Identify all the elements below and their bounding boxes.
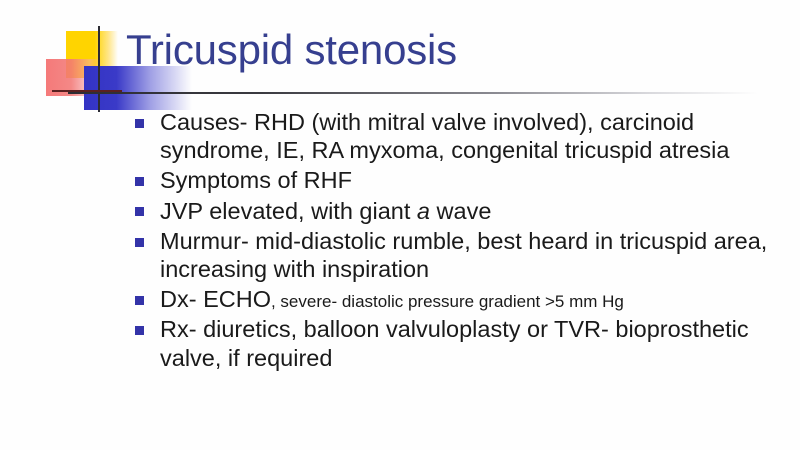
list-item-text-lead: Dx- ECHO: [160, 286, 271, 312]
list-item-treatment: Rx- diuretics, balloon valvuloplasty or …: [132, 315, 782, 371]
bullet-marker-icon: [135, 238, 144, 247]
list-item-text: Symptoms of RHF: [160, 167, 352, 193]
bullet-marker-icon: [135, 326, 144, 335]
list-item-text-lead: JVP elevated, with giant: [160, 198, 417, 224]
list-item-causes: Causes- RHD (with mitral valve involved)…: [132, 108, 782, 164]
page-title: Tricuspid stenosis: [126, 27, 457, 72]
bullet-marker-icon: [135, 119, 144, 128]
list-item-text-tail: wave: [430, 198, 491, 224]
list-item-symptoms: Symptoms of RHF: [132, 166, 782, 194]
bullet-marker-icon: [135, 296, 144, 305]
red-square-icon: [46, 59, 102, 96]
bullet-marker-icon: [135, 177, 144, 186]
list-item-jvp: JVP elevated, with giant a wave: [132, 197, 782, 225]
vertical-line-icon: [98, 26, 100, 112]
bullet-marker-icon: [135, 207, 144, 216]
yellow-square-icon: [66, 31, 118, 78]
bullet-list-container: Causes- RHD (with mitral valve involved)…: [132, 108, 782, 374]
slide: Tricuspid stenosis Causes- RHD (with mit…: [0, 0, 800, 450]
bullet-list: Causes- RHD (with mitral valve involved)…: [132, 108, 782, 372]
list-item-text: Causes- RHD (with mitral valve involved)…: [160, 109, 729, 163]
title-divider: [68, 92, 758, 94]
list-item-murmur: Murmur- mid-diastolic rumble, best heard…: [132, 227, 782, 283]
list-item-text-detail: , severe- diastolic pressure gradient >5…: [271, 292, 624, 311]
list-item-text: Rx- diuretics, balloon valvuloplasty or …: [160, 316, 749, 370]
list-item-text-emphasis: a: [417, 198, 430, 224]
list-item-text: Murmur- mid-diastolic rumble, best heard…: [160, 228, 767, 282]
list-item-diagnosis: Dx- ECHO, severe- diastolic pressure gra…: [132, 285, 782, 313]
